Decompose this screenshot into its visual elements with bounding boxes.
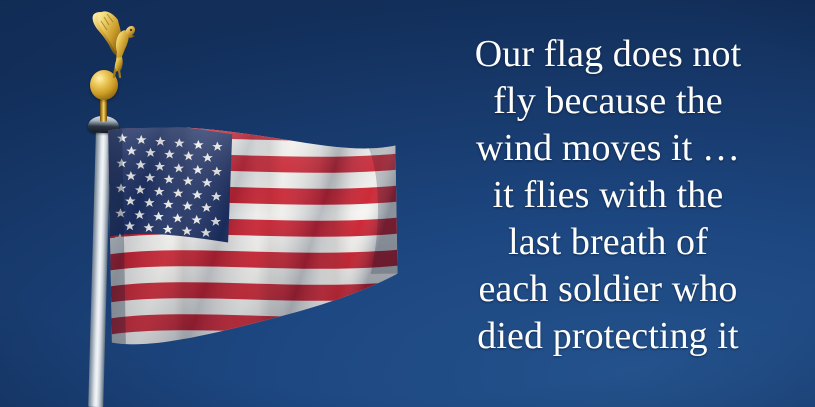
quote-line-4: it flies with the <box>418 172 798 219</box>
quote-line-1: Our flag does not <box>418 31 798 78</box>
gold-eagle-finial-icon <box>82 8 146 82</box>
quote-line-6: each soldier who <box>418 266 798 313</box>
quote-line-2: fly because the <box>418 78 798 125</box>
quote-line-7: died protecting it <box>418 313 798 360</box>
quote-line-3: wind moves it … <box>418 125 798 172</box>
quote-image-canvas: Our flag does not fly because the wind m… <box>0 0 815 407</box>
united-states-flag-icon <box>106 123 402 350</box>
quote-text: Our flag does not fly because the wind m… <box>418 31 798 360</box>
quote-line-5: last breath of <box>418 219 798 266</box>
